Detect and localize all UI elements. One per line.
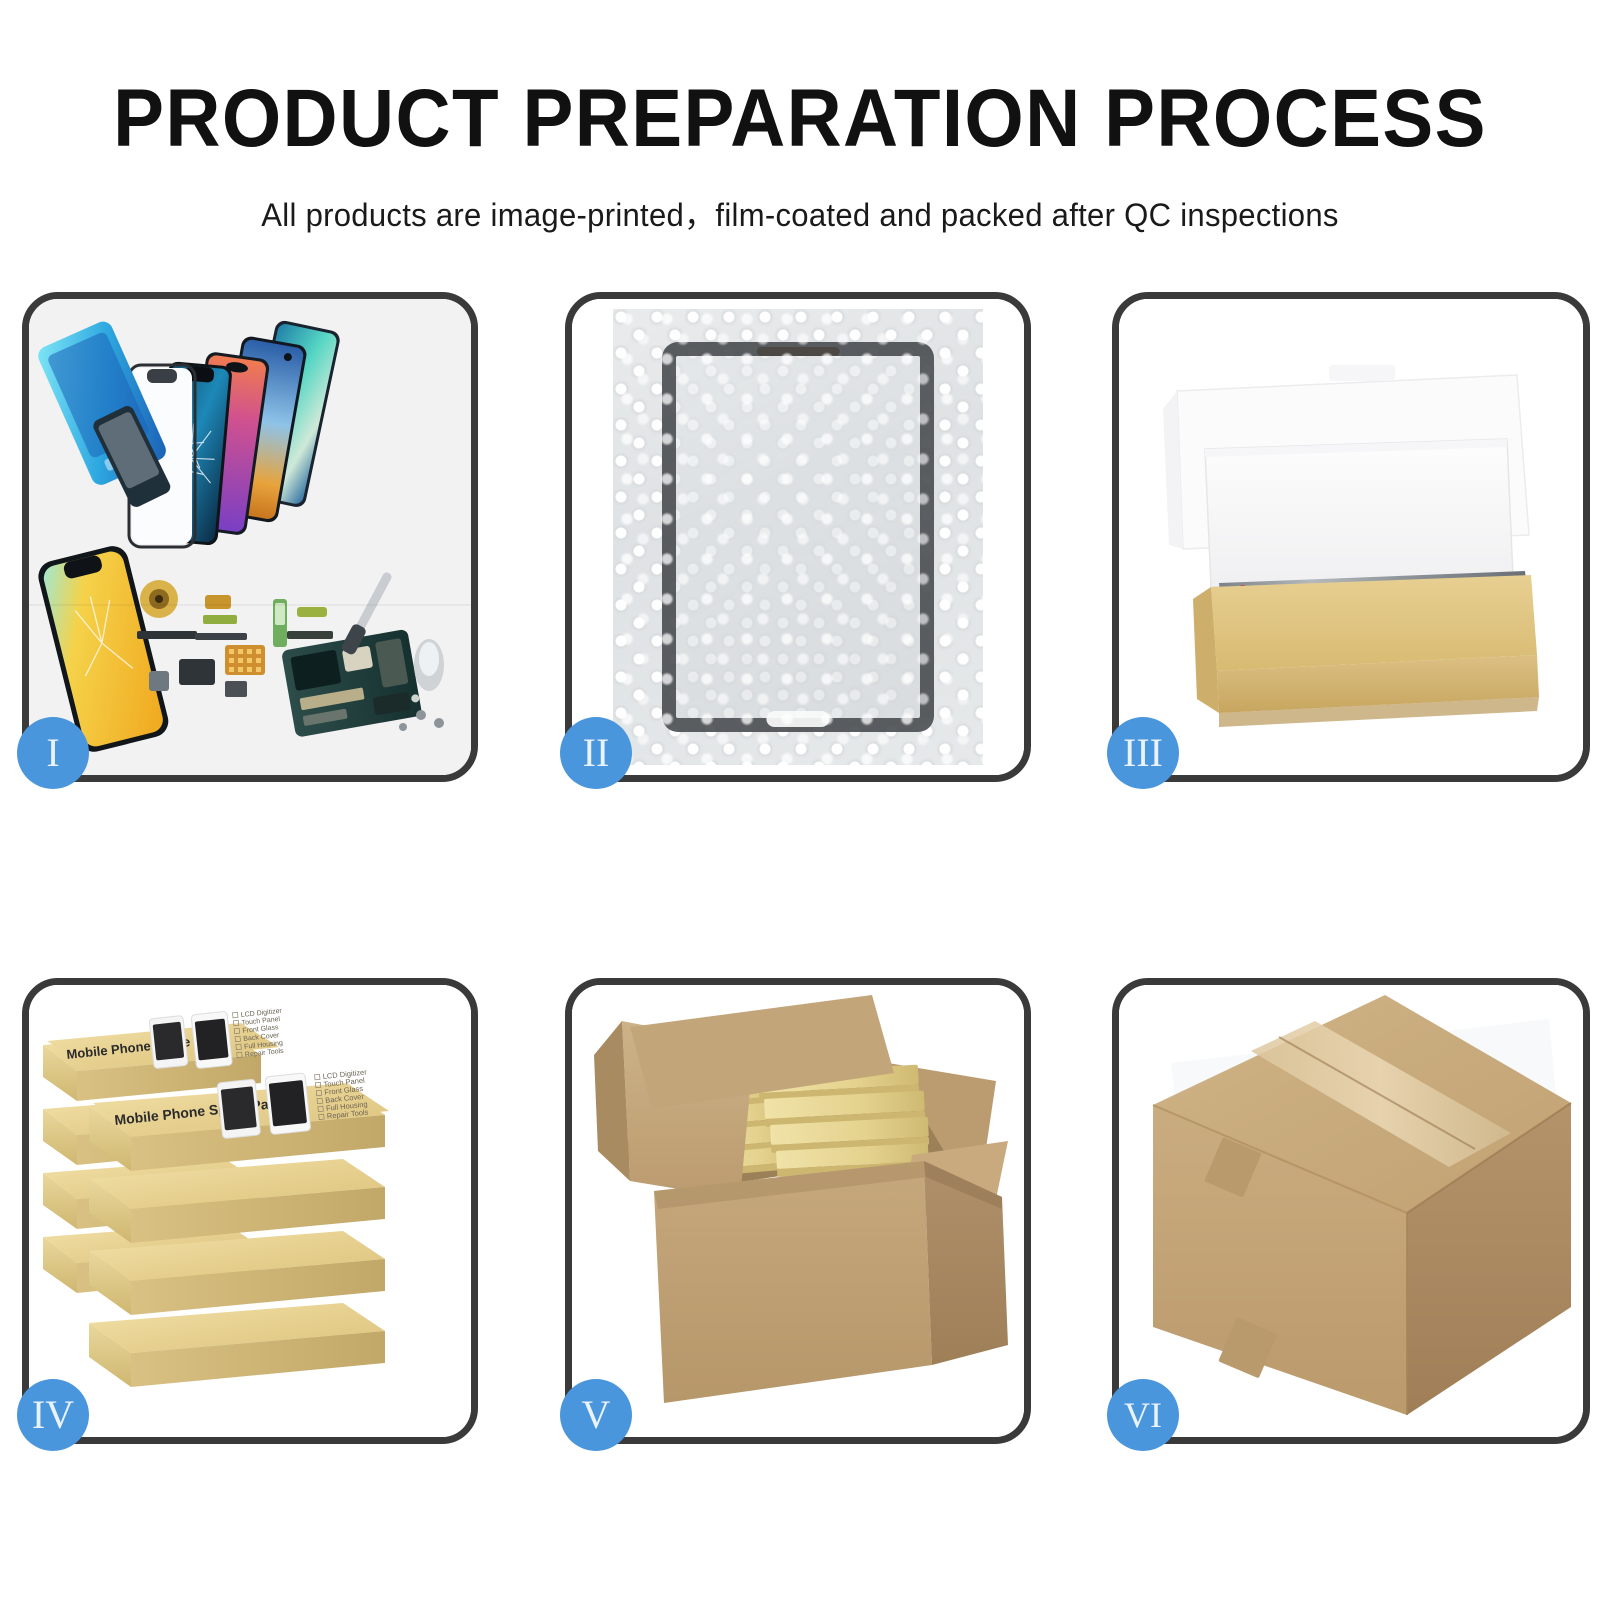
panel-5-artwork <box>572 985 1024 1437</box>
panel-1-artwork <box>29 299 471 775</box>
step-badge-5: V <box>560 1379 632 1451</box>
process-step-6: VI <box>1112 978 1590 1444</box>
step-badge-4: IV <box>17 1379 89 1451</box>
panel-6-image-clip <box>1119 985 1583 1437</box>
panel-4-image-clip: Mobile Phone Spare Parts <box>29 985 471 1437</box>
process-step-2: II <box>565 292 1031 782</box>
product-preparation-infographic: PRODUCT PREPARATION PROCESS All products… <box>0 0 1600 1600</box>
stacked-retail-boxes-image: Mobile Phone Spare Parts <box>29 985 471 1437</box>
panel-2-image-clip <box>572 299 1024 775</box>
step-badge-3: III <box>1107 717 1179 789</box>
panel-5-image-clip <box>572 985 1024 1437</box>
backdrop-seam-line <box>29 604 471 606</box>
step-badge-6: VI <box>1107 1379 1179 1451</box>
open-carton-filled-image <box>572 985 1024 1437</box>
process-step-grid: I II <box>0 0 1600 1600</box>
process-step-4: Mobile Phone Spare Parts <box>22 978 478 1444</box>
panel-6-artwork <box>1119 985 1583 1437</box>
step-badge-1: I <box>17 717 89 789</box>
open-mailer-box-image <box>1119 299 1583 775</box>
bubble-wrap-highlights <box>613 309 984 766</box>
process-step-1: I <box>22 292 478 782</box>
panel-1-image-clip <box>29 299 471 775</box>
phone-parts-collage-image <box>29 299 471 775</box>
panel-4-artwork: Mobile Phone Spare Parts <box>29 985 471 1437</box>
process-step-5: V <box>565 978 1031 1444</box>
sealed-carton-image <box>1119 985 1583 1437</box>
bubble-wrapped-screen-image <box>572 299 1024 775</box>
step-badge-2: II <box>560 717 632 789</box>
panel-3-artwork <box>1119 299 1583 775</box>
panel-3-image-clip <box>1119 299 1583 775</box>
process-step-3: III <box>1112 292 1590 782</box>
